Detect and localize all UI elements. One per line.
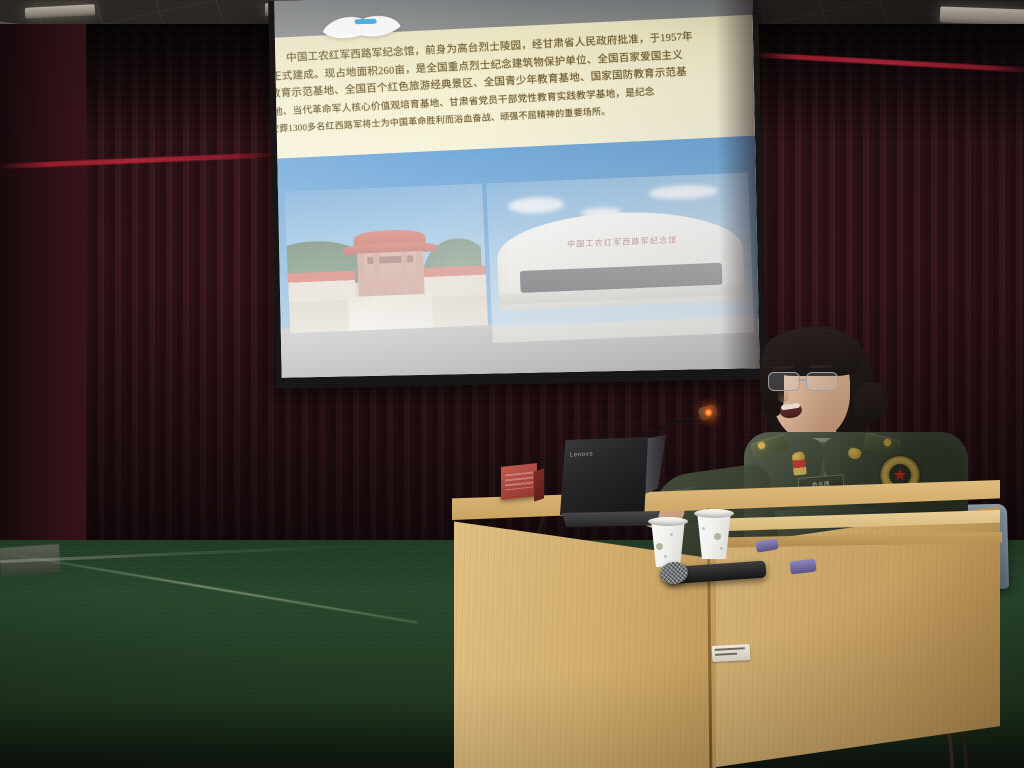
glasses-bridge bbox=[798, 379, 806, 381]
placard-text bbox=[505, 472, 533, 491]
placard-side bbox=[534, 468, 544, 501]
presentation-slide: 中国工农红军西路军纪念馆，前身为高台烈士陵园，经甘肃省人民政府批准，于1957年… bbox=[274, 0, 759, 378]
laptop-base bbox=[562, 511, 660, 527]
cup-pattern-dot bbox=[720, 547, 723, 550]
projection-screen: 中国工农红军西路军纪念馆，前身为高台烈士陵园，经甘肃省人民政府批准，于1957年… bbox=[268, 0, 766, 389]
slide-photo-row: 中国工农红军西路军纪念馆 bbox=[280, 172, 758, 351]
red-placard[interactable] bbox=[501, 463, 537, 500]
laptop-brand-logo: Lenovo bbox=[570, 451, 594, 459]
cup-rim bbox=[648, 517, 688, 526]
projector-haze bbox=[284, 183, 488, 333]
screen-surface: 中国工农红军西路军纪念馆，前身为高台烈士陵园，经甘肃省人民政府批准，于1957年… bbox=[274, 0, 759, 378]
asset-tag-sticker bbox=[712, 644, 751, 662]
slide-photo-memorial-gate bbox=[284, 183, 488, 333]
microphone-led-indicator bbox=[704, 408, 713, 417]
cup-pattern-dot bbox=[714, 533, 721, 540]
lens bbox=[806, 372, 838, 391]
cup-pattern-dot bbox=[664, 555, 667, 558]
laptop-lid: Lenovo bbox=[560, 437, 648, 515]
photo-scene: 中国工农红军西路军纪念馆，前身为高台烈士陵园，经甘肃省人民政府批准，于1957年… bbox=[0, 0, 1024, 768]
cup-rim bbox=[694, 509, 734, 518]
projector-haze bbox=[486, 173, 754, 344]
laptop[interactable]: Lenovo bbox=[560, 437, 656, 529]
cup-pattern-dot bbox=[670, 533, 673, 536]
cloud-logo-icon bbox=[318, 10, 405, 42]
slide-photo-museum: 中国工农红军西路军纪念馆 bbox=[486, 173, 754, 344]
curtain-left-panel bbox=[0, 24, 86, 604]
cup-pattern-dot bbox=[702, 527, 705, 530]
eyeglasses bbox=[768, 372, 844, 389]
cup-pattern-dot bbox=[656, 543, 663, 550]
nose bbox=[778, 388, 789, 402]
fluorescent-light bbox=[940, 6, 1024, 25]
